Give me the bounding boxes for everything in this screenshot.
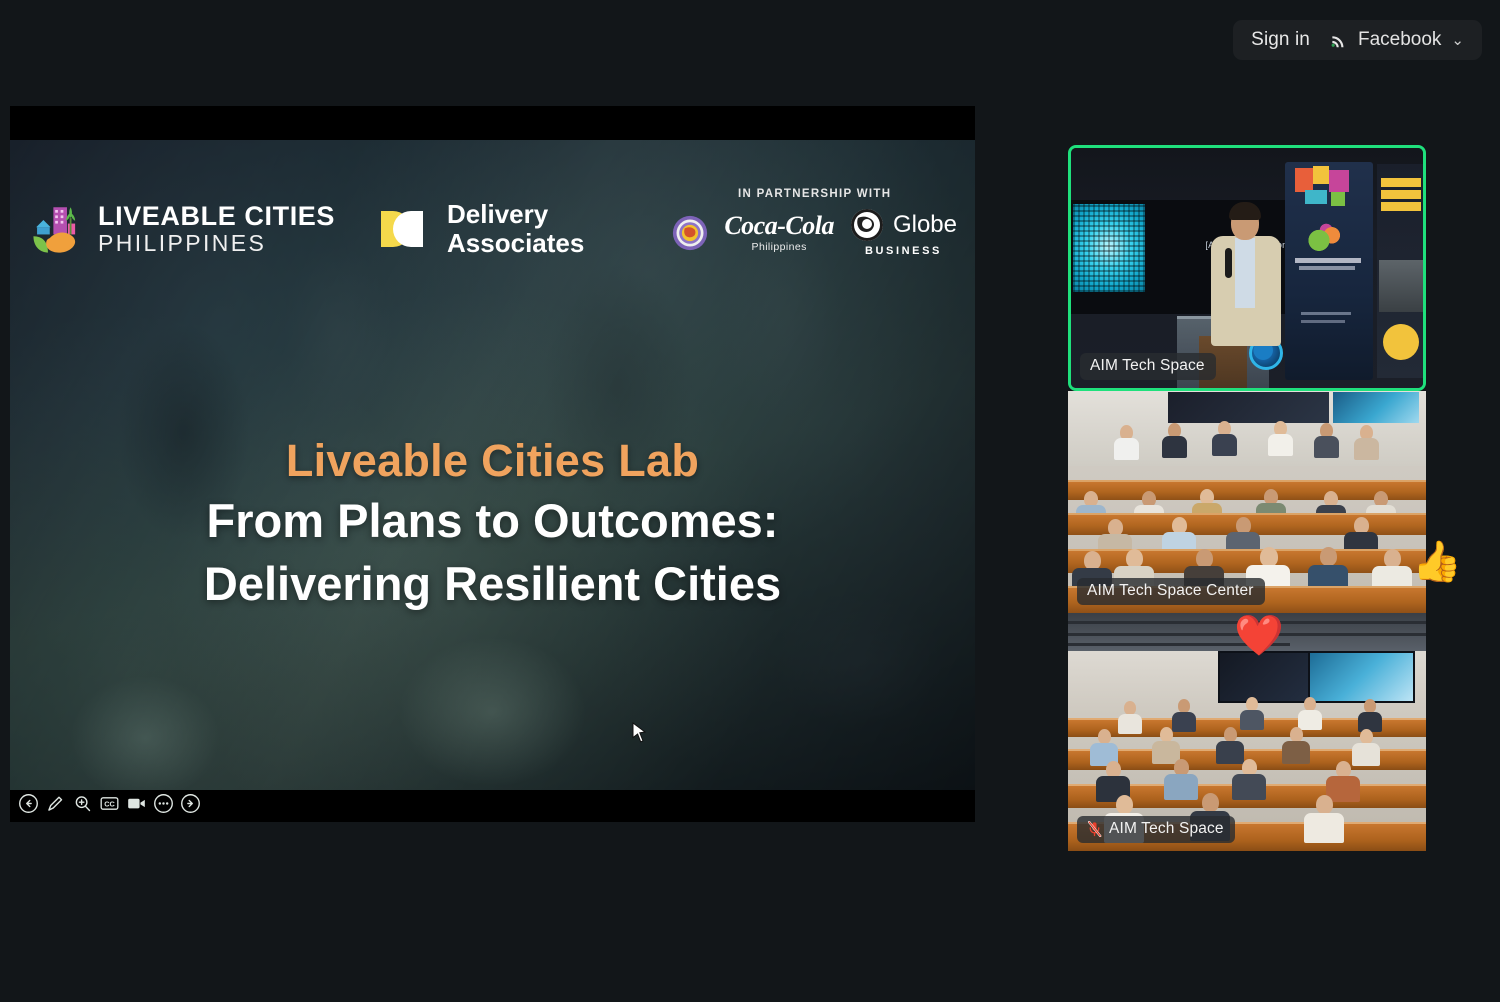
event-banner-secondary xyxy=(1377,164,1425,378)
partnership-label: IN PARTNERSHIP WITH xyxy=(672,188,957,200)
back-arrow-icon[interactable] xyxy=(18,793,39,814)
video-tile-active-speaker[interactable]: [ACEN] Mike Zotomayor AIM Tech S xyxy=(1068,145,1426,391)
microphone-muted-icon xyxy=(1087,821,1102,837)
video-tile-audience-center[interactable]: AIM Tech Space Center xyxy=(1068,391,1426,613)
sign-in-button[interactable]: Sign in xyxy=(1249,27,1312,53)
top-bar: Sign in Facebook ⌄ xyxy=(0,0,1500,78)
liveable-cities-country: PHILIPPINES xyxy=(98,231,335,256)
more-options-icon[interactable] xyxy=(153,793,174,814)
liveable-cities-logo-lockup: LIVEABLE CITIES PHILIPPINES xyxy=(28,200,335,258)
tile-label-1: AIM Tech Space xyxy=(1080,353,1216,380)
tile-label-3: AIM Tech Space xyxy=(1077,816,1235,843)
globe-telecom-logo xyxy=(850,208,884,242)
slide-logo-row: LIVEABLE CITIES PHILIPPINES Delivery Ass… xyxy=(28,200,584,258)
slide-title-line-2: Delivering Resilient Cities xyxy=(10,555,975,612)
slide-title-block: Liveable Cities Lab From Plans to Outcom… xyxy=(10,436,975,612)
delivery-associates-line2: Associates xyxy=(447,229,584,258)
account-controls: Sign in Facebook ⌄ xyxy=(1233,20,1482,60)
mouse-pointer xyxy=(632,722,648,744)
tile-label-text: AIM Tech Space xyxy=(1109,820,1224,838)
thumbs-up-emoji: 👍 xyxy=(1412,542,1462,582)
participant-tiles: [ACEN] Mike Zotomayor AIM Tech S xyxy=(1068,145,1426,851)
pencil-icon[interactable] xyxy=(45,793,66,814)
closed-captions-icon[interactable]: CC xyxy=(99,793,120,814)
platform-label: Facebook xyxy=(1358,29,1441,51)
globe-lockup: Globe BUSINESS xyxy=(850,208,957,257)
camera-icon[interactable] xyxy=(126,793,147,814)
presentation-stage[interactable]: LIVEABLE CITIES PHILIPPINES Delivery Ass… xyxy=(10,106,975,822)
red-heart-emoji: ❤️ xyxy=(1234,616,1284,656)
event-banner-primary xyxy=(1285,162,1373,380)
government-seal-icon xyxy=(672,215,708,251)
globe-business-label: BUSINESS xyxy=(850,245,957,257)
tile-label-text: AIM Tech Space xyxy=(1090,357,1205,375)
slide-eyebrow-title: Liveable Cities Lab xyxy=(10,436,975,486)
rss-broadcast-icon xyxy=(1330,31,1349,50)
livestream-page: Sign in Facebook ⌄ xyxy=(0,0,1500,1002)
liveable-cities-logo xyxy=(28,200,86,258)
slide-title-line-1: From Plans to Outcomes: xyxy=(10,492,975,549)
coca-cola-wordmark: Coca-Cola xyxy=(724,213,834,239)
tile-label-2: AIM Tech Space Center xyxy=(1077,578,1265,605)
coca-cola-lockup: Coca-Cola Philippines xyxy=(724,213,834,253)
slide-canvas: LIVEABLE CITIES PHILIPPINES Delivery Ass… xyxy=(10,140,975,790)
tile-label-text: AIM Tech Space Center xyxy=(1087,582,1254,600)
svg-text:CC: CC xyxy=(104,799,115,808)
speaker-figure xyxy=(1209,206,1283,382)
partners-block: IN PARTNERSHIP WITH Coca-Cola Philippine… xyxy=(672,188,957,257)
facebook-account-menu[interactable]: Facebook ⌄ xyxy=(1330,29,1464,51)
delivery-associates-lockup: Delivery Associates xyxy=(379,200,584,258)
slide-toolbar: CC xyxy=(18,793,201,814)
zoom-in-icon[interactable] xyxy=(72,793,93,814)
forward-arrow-icon[interactable] xyxy=(180,793,201,814)
delivery-associates-line1: Delivery xyxy=(447,200,584,229)
globe-wordmark: Globe xyxy=(893,213,957,237)
presentation-screen-graphic xyxy=(1073,204,1145,292)
chevron-down-icon: ⌄ xyxy=(1451,33,1464,48)
coca-cola-market: Philippines xyxy=(724,241,834,253)
delivery-associates-logo xyxy=(379,209,435,249)
liveable-cities-name: LIVEABLE CITIES xyxy=(98,202,335,230)
